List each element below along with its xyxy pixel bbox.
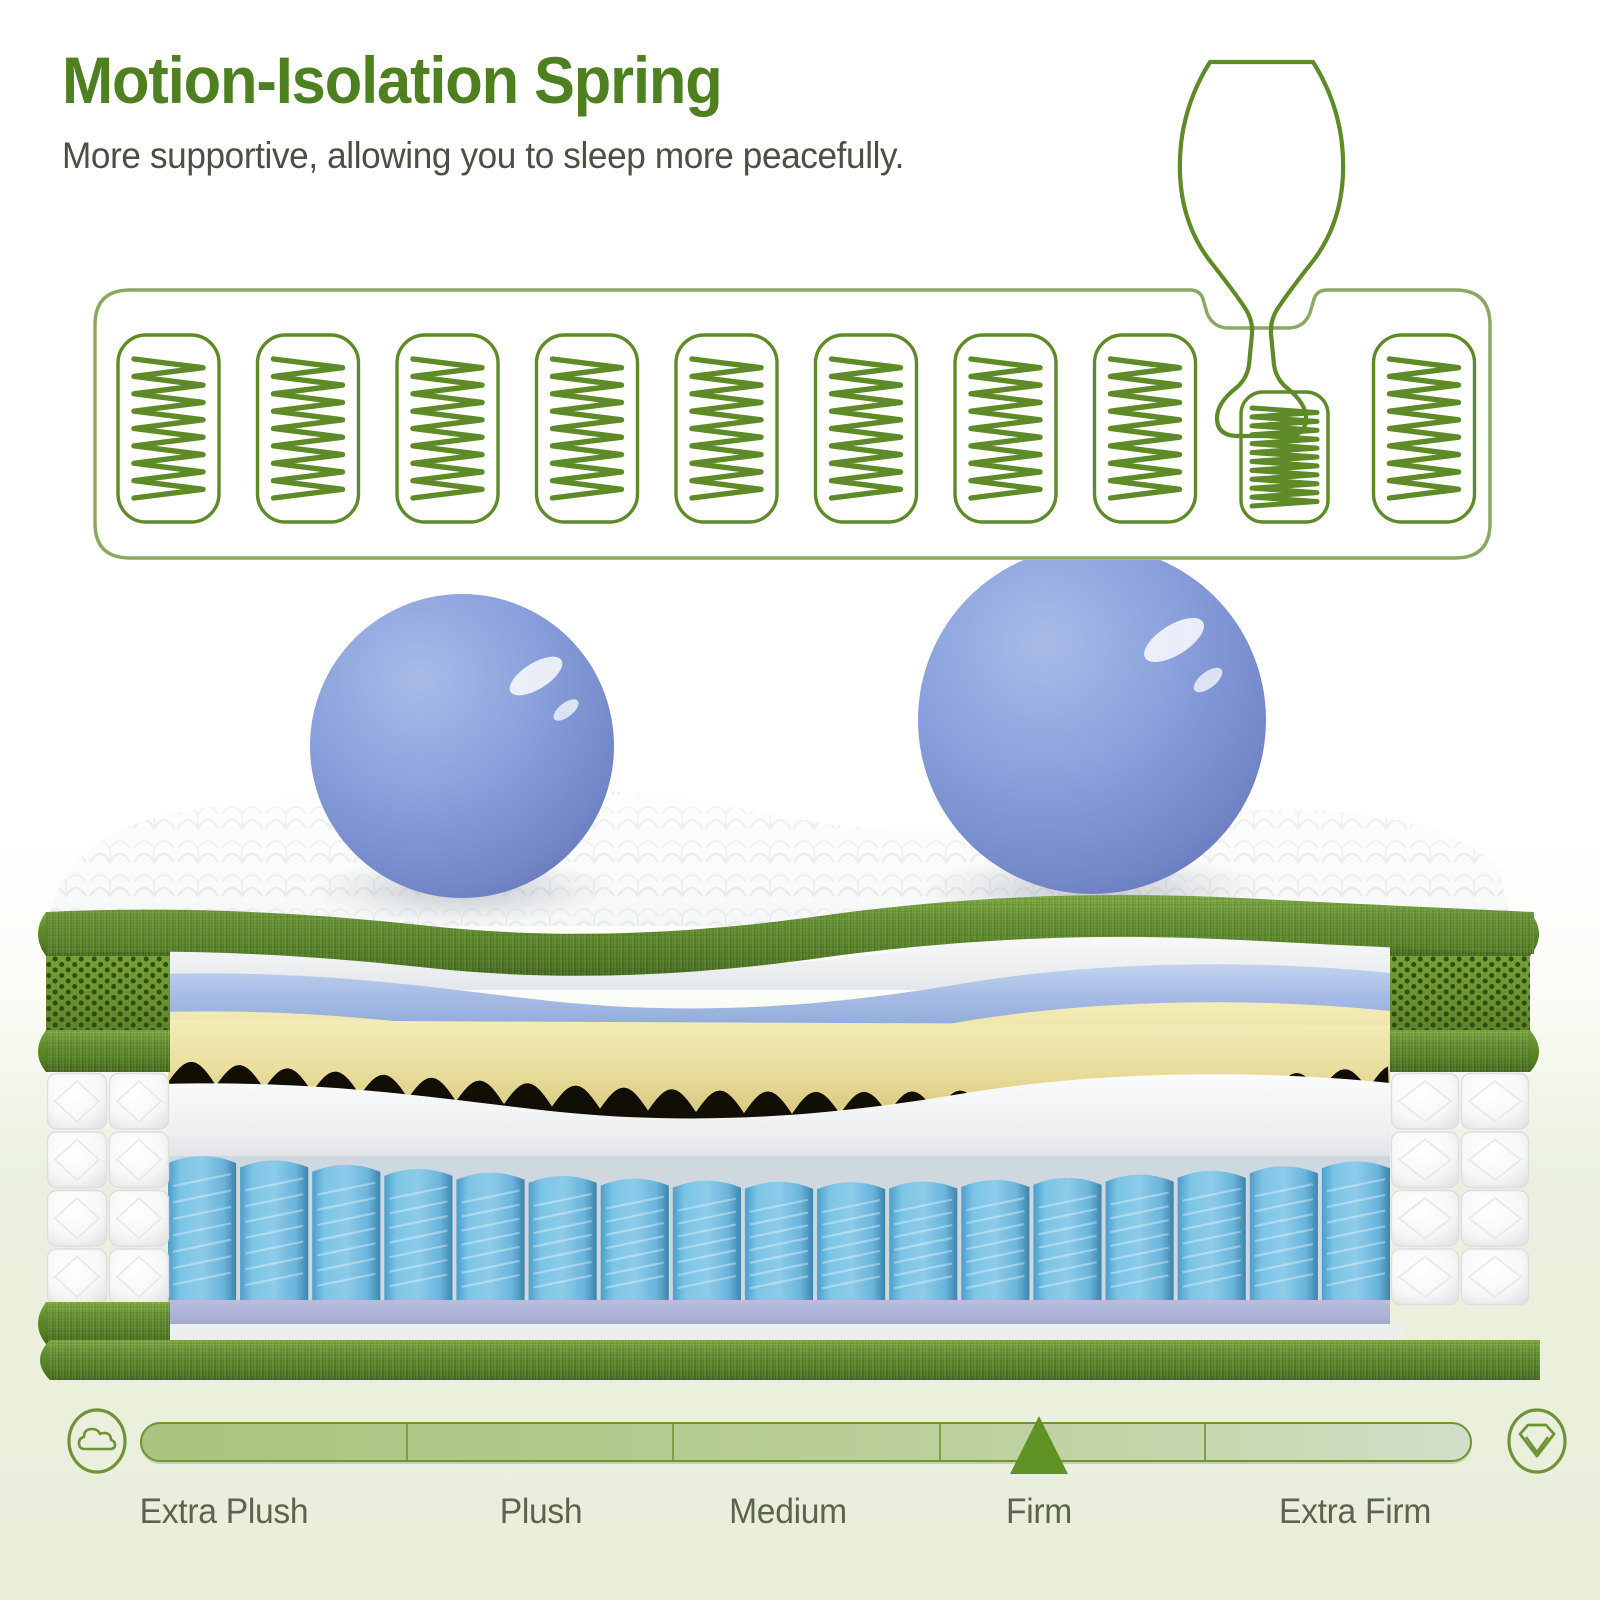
coil-spring-icon xyxy=(1111,359,1180,498)
coil-spring-icon xyxy=(971,359,1040,498)
firmness-marker[interactable] xyxy=(1010,1416,1068,1474)
coil-spring-icon xyxy=(1390,359,1459,498)
wine-glass-icon xyxy=(1180,62,1343,436)
foam-layer-stack xyxy=(160,922,1400,1326)
firmness-divider xyxy=(1204,1424,1206,1460)
firmness-label-firm: Firm xyxy=(1006,1492,1072,1532)
firmness-label-extra-firm: Extra Firm xyxy=(1279,1492,1431,1532)
gem-icon xyxy=(1506,1408,1568,1474)
quilted-side-panel xyxy=(1392,1074,1529,1305)
coil-spring-icon xyxy=(413,359,482,498)
spring-diagram xyxy=(0,18,1600,588)
blue-ball xyxy=(310,594,614,898)
firmness-label-extra-plush: Extra Plush xyxy=(140,1492,309,1532)
coil-spring-icon xyxy=(134,359,203,498)
coil-spring-icon xyxy=(692,359,761,498)
infographic-canvas: Motion-Isolation Spring More supportive,… xyxy=(0,0,1600,1600)
firmness-bar[interactable] xyxy=(140,1422,1472,1462)
coil-spring-icon xyxy=(553,359,622,498)
firmness-label-plush: Plush xyxy=(500,1492,583,1532)
coil-spring-icon xyxy=(274,359,343,498)
firmness-divider xyxy=(406,1424,408,1460)
mattress-cutaway xyxy=(0,560,1600,1390)
green-base-trim xyxy=(40,1340,1540,1380)
coil-spring-icon xyxy=(1252,408,1317,506)
firmness-divider xyxy=(939,1424,941,1460)
firmness-divider xyxy=(672,1424,674,1460)
mattress-right-edge xyxy=(1390,912,1539,1305)
firmness-label-medium: Medium xyxy=(729,1492,847,1532)
firmness-scale[interactable]: Extra Plush Plush Medium Firm Extra Firm xyxy=(0,1400,1600,1580)
quilted-side-panel xyxy=(48,1074,169,1305)
cloud-icon xyxy=(66,1408,128,1474)
blue-ball xyxy=(918,560,1266,894)
mattress-left-edge xyxy=(38,912,170,1344)
coil-spring-icon xyxy=(832,359,901,498)
lavender-base-layer xyxy=(160,1300,1400,1326)
